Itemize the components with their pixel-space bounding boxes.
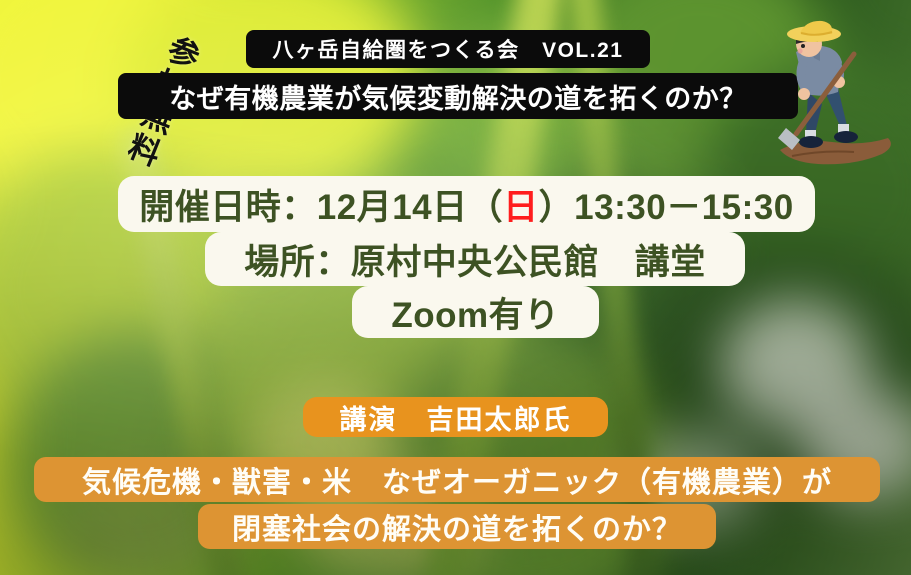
series-banner: 八ヶ岳自給圏をつくる会 VOL.21 [246,30,650,68]
datetime-prefix: 開催日時：12月14日（ [139,179,503,230]
subtitle-line-2: 閉塞社会の解決の道を拓くのか？ [198,504,716,549]
datetime-weekday: 日 [503,179,539,230]
event-venue: 場所：原村中央公民館 講堂 [205,232,745,286]
eye [801,44,805,48]
subtitle-line-1: 気候危機・獣害・米 なぜオーガニック（有機農業）が [34,457,880,502]
event-datetime: 開催日時：12月14日（日）13:30－15:30 [118,176,815,232]
datetime-suffix: ）13:30－15:30 [539,179,794,230]
farmer-hoeing-illustration [762,18,911,178]
speaker-banner: 講演 吉田太郎氏 [303,397,608,437]
poster-root: 参加無料 八ヶ岳自給圏をつくる会 VOL.21 なぜ有機農業が気候変動解決の道を… [0,0,911,575]
page-title: なぜ有機農業が気候変動解決の道を拓くのか？ [118,73,798,119]
hand [798,88,810,100]
shoe [799,136,823,148]
event-zoom-note: Zoom有り [352,286,599,338]
shoe [834,131,858,143]
hat-crown [800,21,832,34]
cheek [797,48,802,53]
